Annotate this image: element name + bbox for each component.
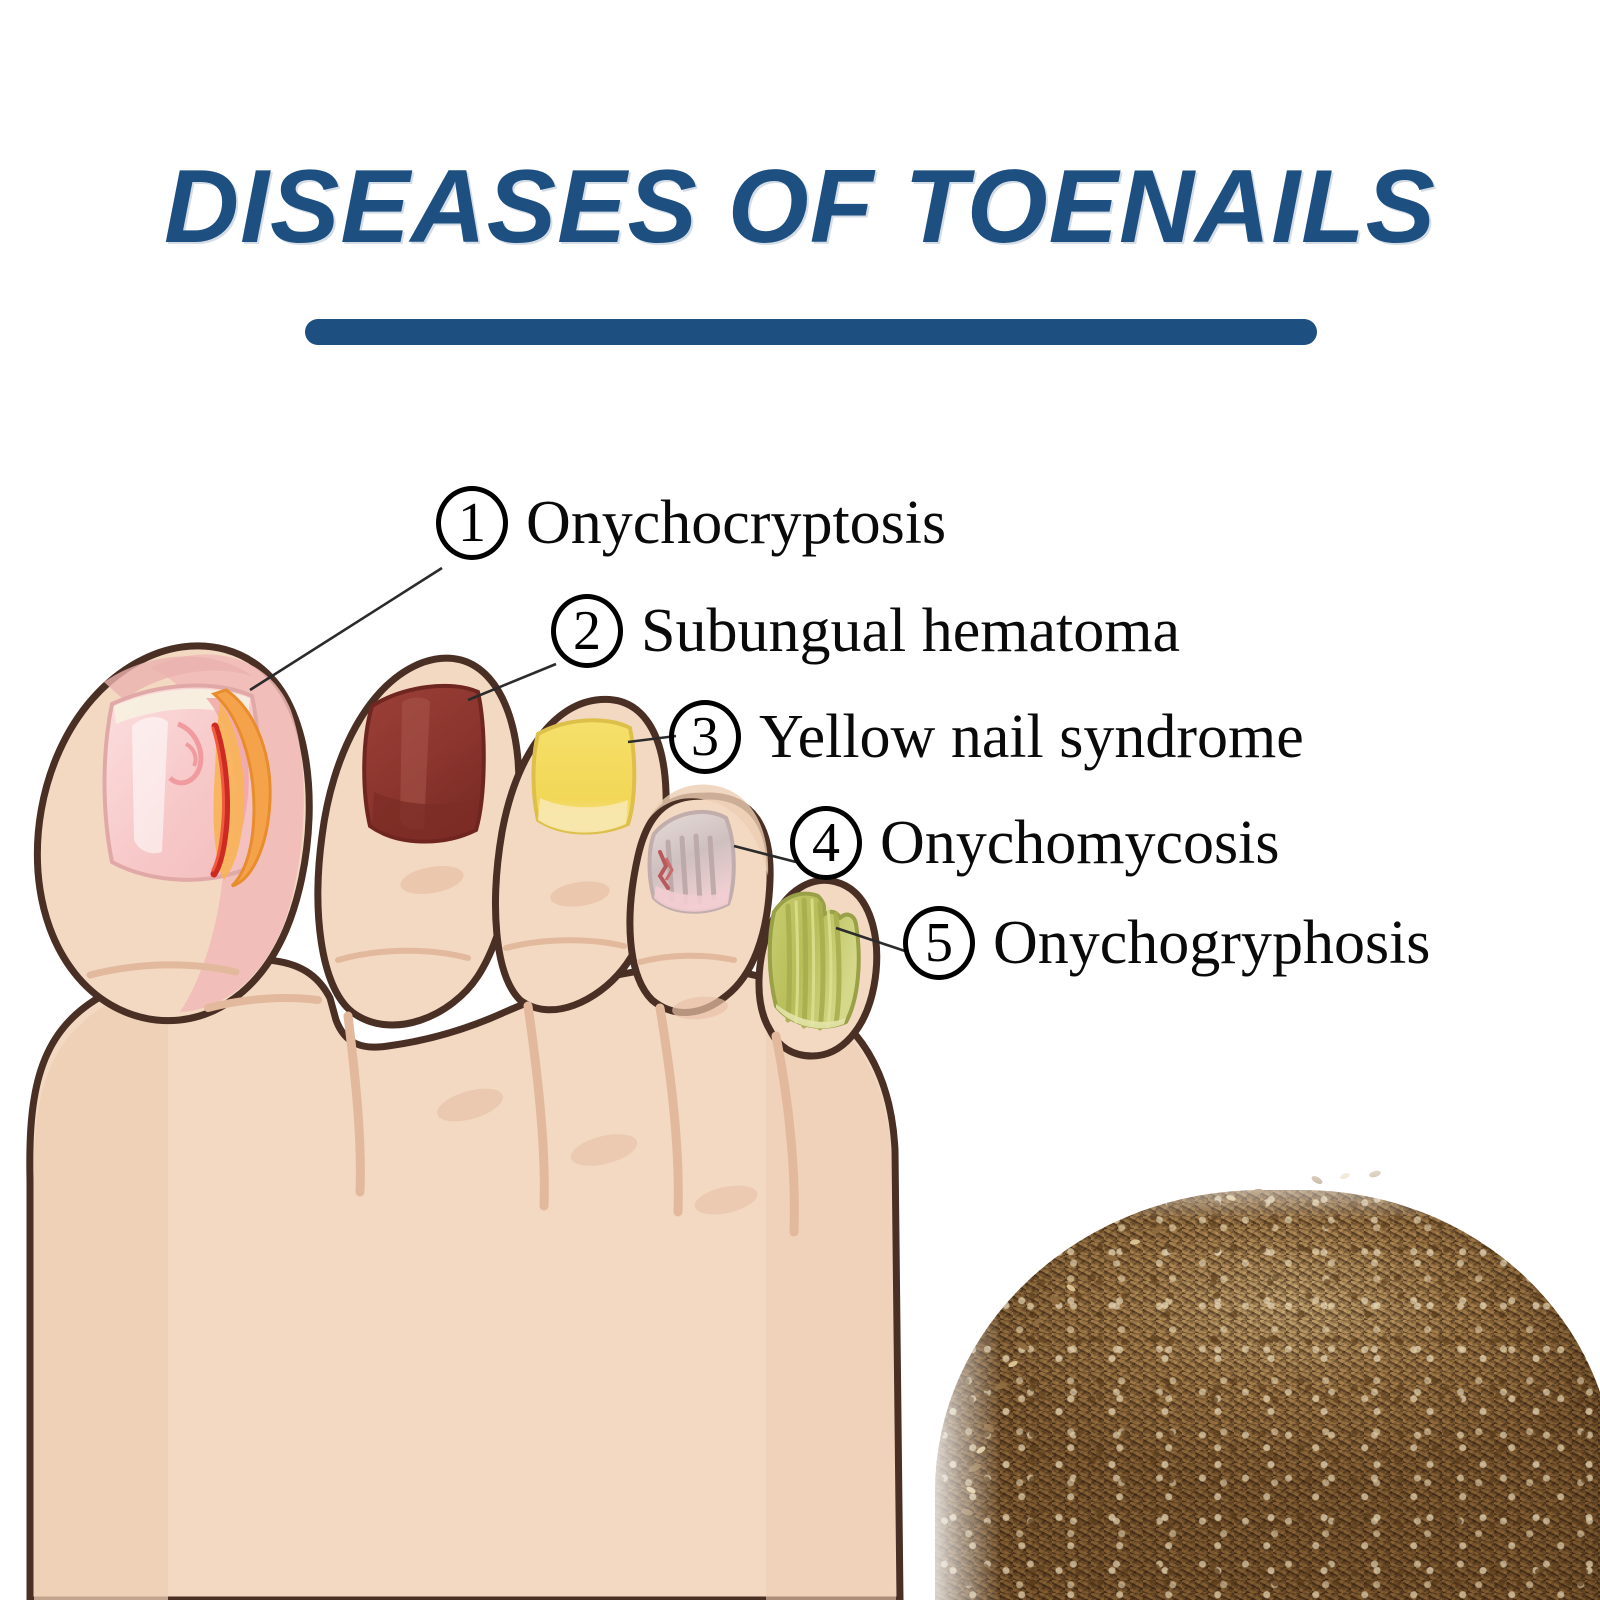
legend-number-badge-4: 4 <box>790 806 862 880</box>
legend-label-4: Onychomycosis <box>880 812 1280 874</box>
legend-number-badge-2: 2 <box>551 594 623 668</box>
legend-number-badge-5: 5 <box>903 906 975 980</box>
foot-body <box>30 959 900 1600</box>
legend-label-2: Subungual hematoma <box>641 600 1180 662</box>
legend-item-1[interactable]: 1 Onychocryptosis <box>436 486 946 560</box>
fifth-toe <box>759 880 877 1056</box>
legend-label-5: Onychogryphosis <box>993 912 1430 974</box>
infographic-canvas: DISEASES OF TOENAILS <box>0 0 1600 1600</box>
third-toe-nail <box>534 720 635 832</box>
fourth-toe-nail <box>650 812 734 912</box>
fifth-toe-nail <box>770 894 859 1029</box>
legend-label-3: Yellow nail syndrome <box>759 706 1304 768</box>
second-toe-nail <box>364 686 484 842</box>
legend-number-badge-3: 3 <box>669 700 741 774</box>
legend-item-4[interactable]: 4 Onychomycosis <box>790 806 1280 880</box>
legend-number-badge-1: 1 <box>436 486 508 560</box>
second-toe <box>318 658 519 1025</box>
seed-pile-photo <box>905 1150 1600 1600</box>
legend-item-5[interactable]: 5 Onychogryphosis <box>903 906 1430 980</box>
seed-speckle-texture <box>935 1190 1600 1600</box>
legend-label-1: Onychocryptosis <box>526 492 946 554</box>
big-toe <box>37 646 309 1021</box>
legend-item-3[interactable]: 3 Yellow nail syndrome <box>669 700 1304 774</box>
big-toe-nail <box>105 686 271 886</box>
legend-item-2[interactable]: 2 Subungual hematoma <box>551 594 1180 668</box>
